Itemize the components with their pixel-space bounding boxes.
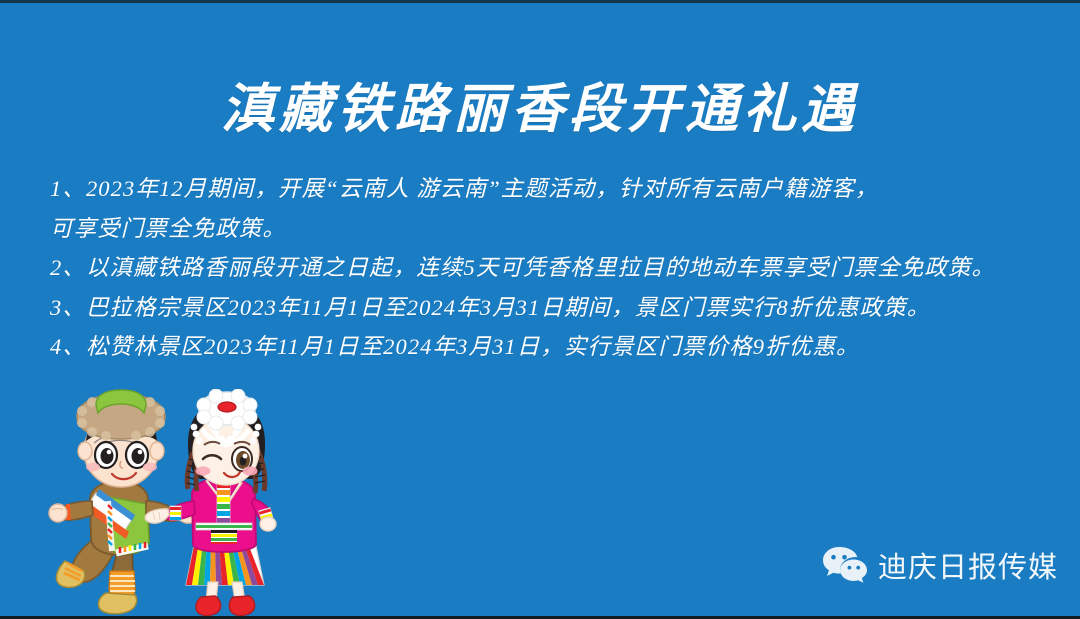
watermark-label: 迪庆日报传媒 (878, 544, 1058, 586)
policy-line-2: 2、以滇藏铁路香丽段开通之日起，连续5天可凭香格里拉目的地动车票享受门票全免政策… (50, 248, 1065, 288)
page-title: 滇藏铁路丽香段开通礼遇 (0, 81, 1080, 139)
tibetan-boy-mascot (49, 390, 196, 614)
mascot-illustration (36, 389, 286, 619)
watermark: 迪庆日报传媒 (822, 544, 1058, 586)
poster-canvas: 滇藏铁路丽香段开通礼遇 1、2023年12月期间，开展“云南人 游云南”主题活动… (0, 0, 1080, 619)
policy-line-3: 3、巴拉格宗景区2023年11月1日至2024年3月31日期间，景区门票实行8折… (50, 288, 1065, 328)
policy-line-1-continued: 可享受门票全免政策。 (50, 209, 1065, 249)
policy-list: 1、2023年12月期间，开展“云南人 游云南”主题活动，针对所有云南户籍游客，… (50, 169, 1065, 367)
policy-line-1: 1、2023年12月期间，开展“云南人 游云南”主题活动，针对所有云南户籍游客， (50, 169, 1065, 209)
wechat-icon (822, 545, 868, 585)
policy-line-4: 4、松赞林景区2023年11月1日至2024年3月31日，实行景区门票价格9折优… (50, 327, 1065, 367)
